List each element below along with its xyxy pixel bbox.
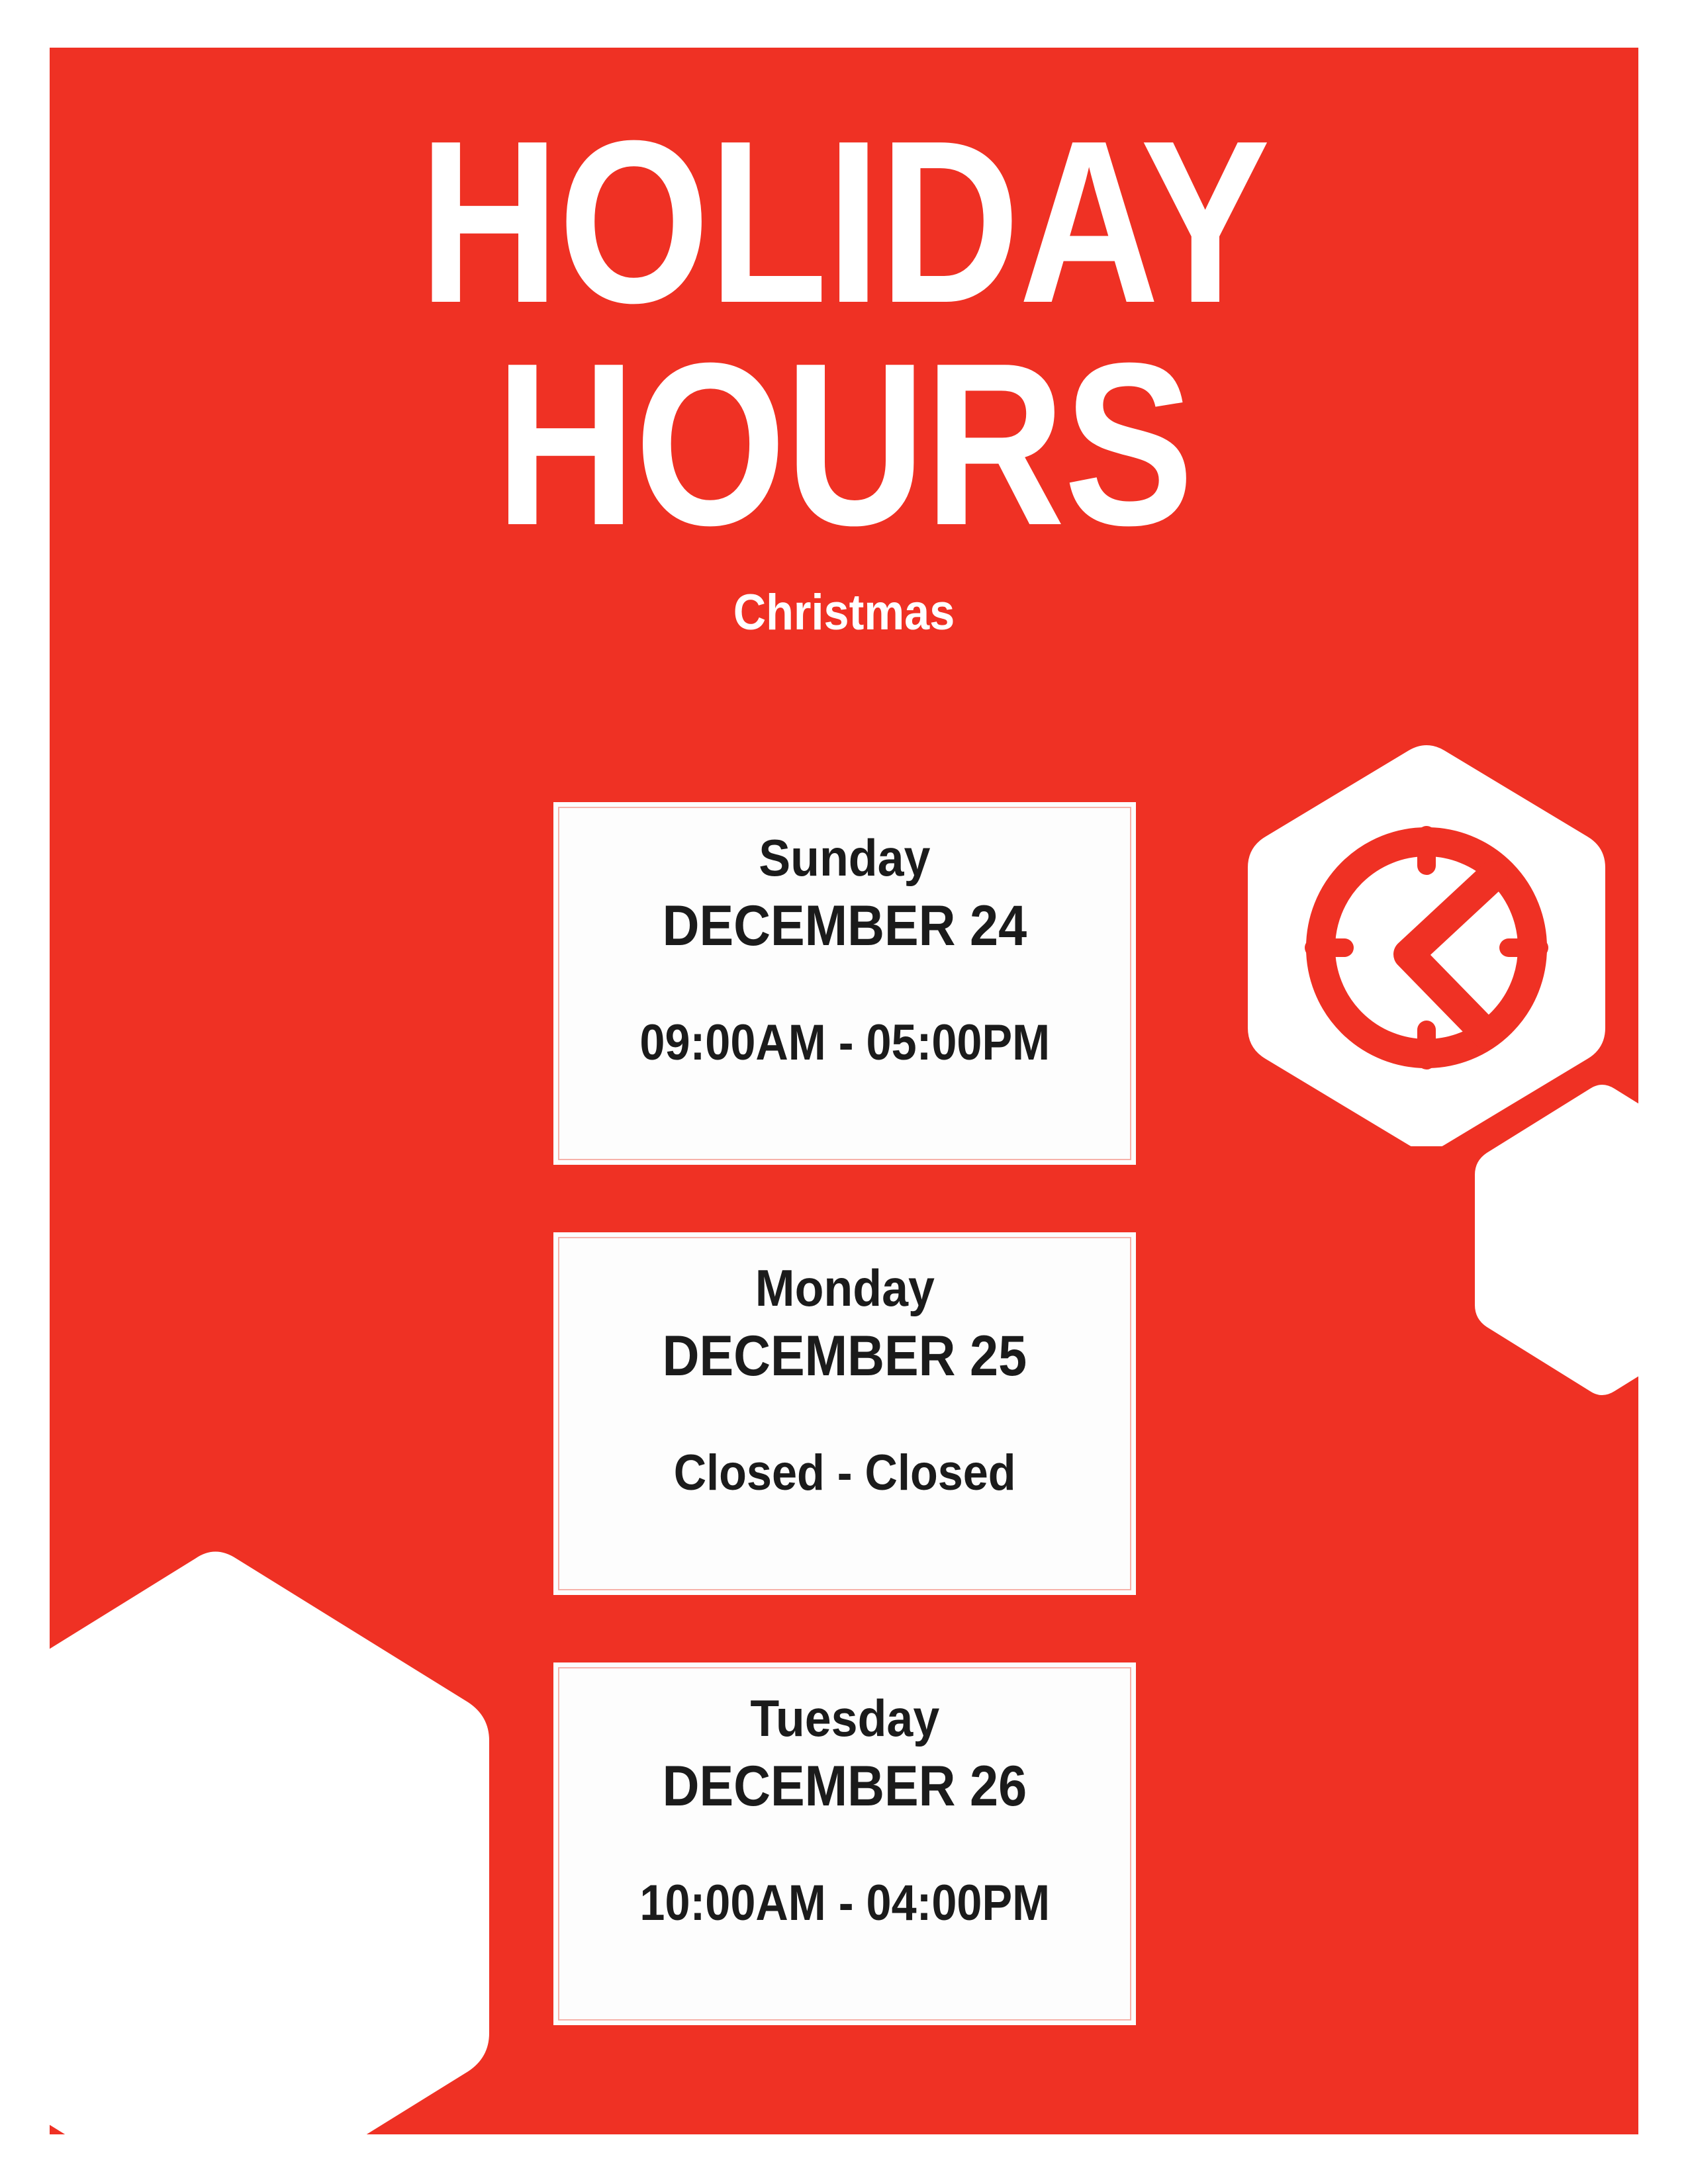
schedule-card-hours: 10:00AM - 04:00PM (639, 1877, 1050, 1930)
schedule-card[interactable]: Tuesday DECEMBER 26 10:00AM - 04:00PM (553, 1662, 1136, 2025)
schedule-card-day: Monday (755, 1261, 934, 1316)
title-line-holiday: HOLIDAY (177, 111, 1511, 334)
hexagon-icon (50, 1552, 489, 2135)
schedule-card[interactable]: Monday DECEMBER 25 Closed - Closed (553, 1232, 1136, 1595)
clock-in-hexagon-icon (1241, 736, 1612, 1146)
schedule-card-day: Tuesday (750, 1692, 939, 1746)
schedule-card-date: DECEMBER 25 (663, 1326, 1027, 1386)
poster-canvas: HOLIDAY HOURS Christmas Sun (50, 48, 1638, 2134)
schedule-card-date: DECEMBER 24 (663, 896, 1027, 956)
schedule-card-hours: Closed - Closed (674, 1447, 1016, 1500)
schedule-card-date: DECEMBER 26 (663, 1756, 1027, 1816)
schedule-card-hours: 09:00AM - 05:00PM (639, 1017, 1050, 1069)
schedule-list: Sunday DECEMBER 24 09:00AM - 05:00PM Mon… (553, 802, 1136, 2025)
schedule-card[interactable]: Sunday DECEMBER 24 09:00AM - 05:00PM (553, 802, 1136, 1165)
poster-subtitle: Christmas (129, 588, 1559, 638)
title-line-hours: HOURS (177, 334, 1511, 556)
poster-root: HOLIDAY HOURS Christmas Sun (0, 0, 1688, 2184)
schedule-card-day: Sunday (759, 831, 930, 886)
page-title: HOLIDAY HOURS Christmas (50, 111, 1638, 638)
